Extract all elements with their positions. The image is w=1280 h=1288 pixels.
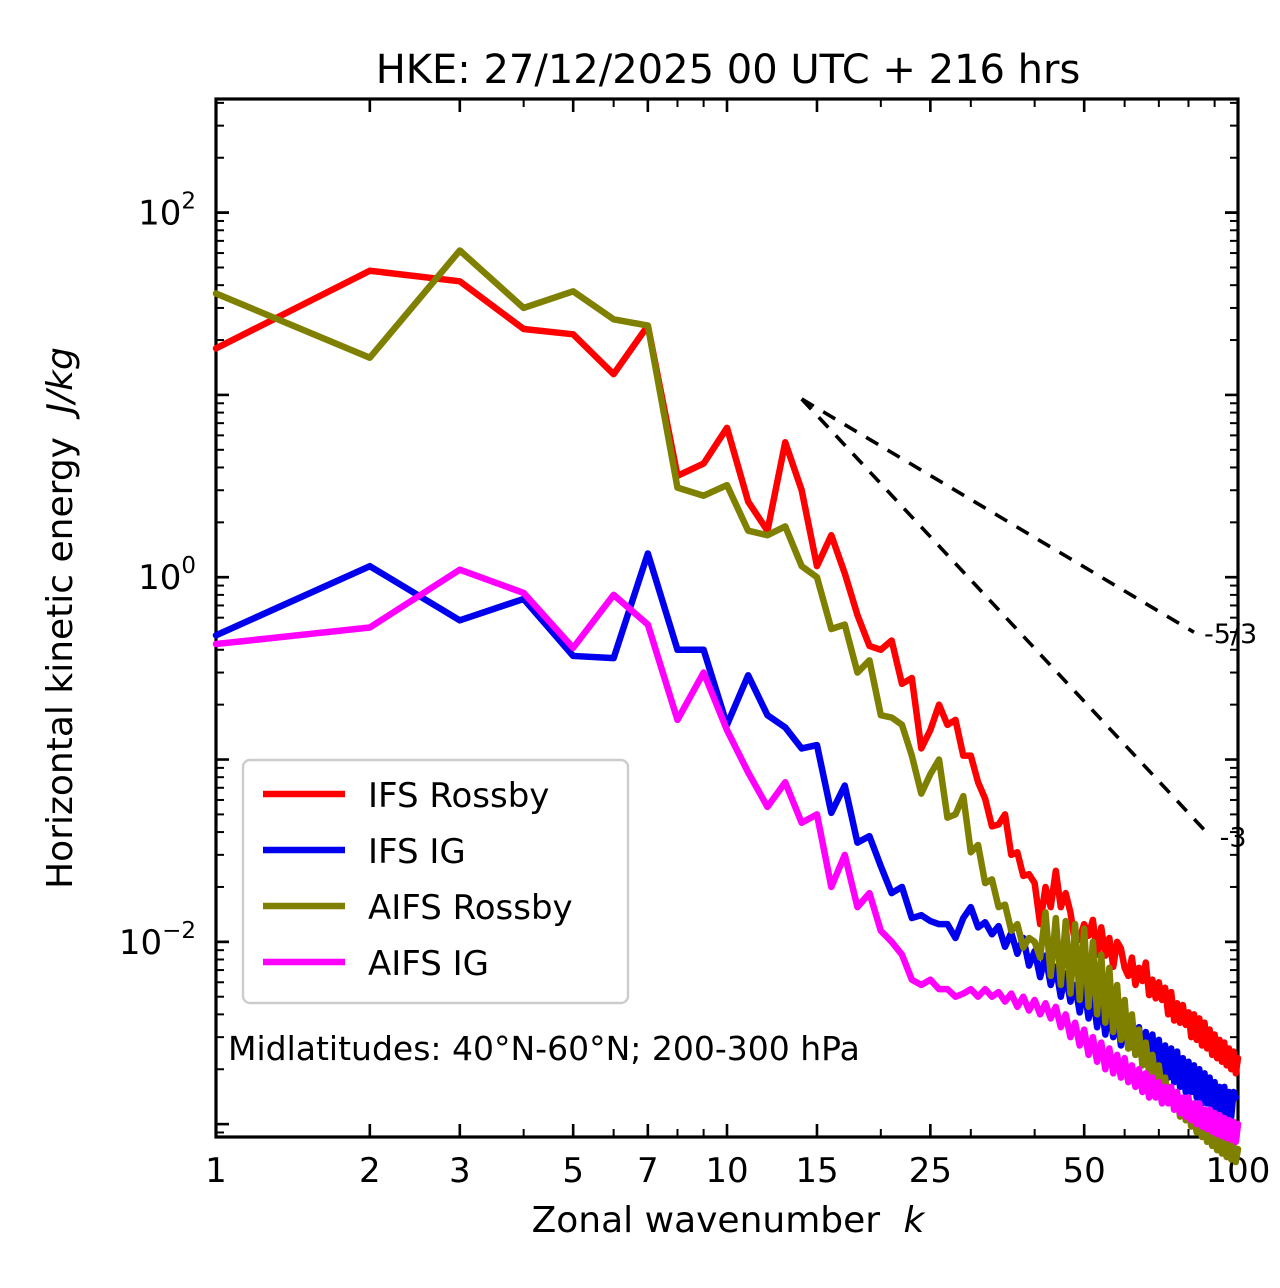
y-tick-label: 102 <box>138 189 196 234</box>
x-tick-label: 2 <box>359 1151 381 1191</box>
x-tick-label: 5 <box>562 1151 584 1191</box>
x-tick-label: 15 <box>795 1151 838 1191</box>
x-axis-label-symbol: k <box>904 1200 927 1241</box>
slope-line <box>802 399 1194 632</box>
hke-spectrum-chart: HKE: 27/12/2025 00 UTC + 216 hrs 1235710… <box>0 0 1280 1288</box>
series-line-aifs-rossby <box>216 250 1238 1162</box>
slope-label: -5/3 <box>1204 619 1257 650</box>
data-series-group <box>216 250 1238 1162</box>
chart-title: HKE: 27/12/2025 00 UTC + 216 hrs <box>376 47 1081 93</box>
x-axis-tick-labels: 1235710152550100 <box>205 1151 1270 1191</box>
y-axis-label-symbol: J/kg <box>40 347 81 419</box>
x-tick-label: 7 <box>637 1151 659 1191</box>
y-tick-label: 100 <box>138 553 196 598</box>
y-axis-label-text: Horizontal kinetic energy <box>40 437 81 889</box>
x-tick-label: 50 <box>1063 1151 1106 1191</box>
x-tick-label: 3 <box>449 1151 471 1191</box>
reference-slope-lines: -5/3-3 <box>802 399 1257 854</box>
x-axis-label: Zonal wavenumber k <box>532 1200 927 1241</box>
slope-line <box>802 399 1210 836</box>
legend-label-ifs-rossby[interactable]: IFS Rossby <box>368 776 549 816</box>
legend-label-aifs-ig[interactable]: AIFS IG <box>368 944 489 984</box>
figure-container: HKE: 27/12/2025 00 UTC + 216 hrs 1235710… <box>0 0 1280 1288</box>
x-tick-label: 25 <box>909 1151 952 1191</box>
slope-label: -3 <box>1220 823 1247 854</box>
y-axis-label: Horizontal kinetic energy J/kg <box>40 347 81 889</box>
x-axis-label-text: Zonal wavenumber <box>532 1200 881 1241</box>
y-tick-label: 10−2 <box>119 918 196 963</box>
x-tick-label: 10 <box>705 1151 748 1191</box>
legend-label-ifs-ig[interactable]: IFS IG <box>368 832 466 872</box>
legend[interactable]: IFS RossbyIFS IGAIFS RossbyAIFS IG <box>243 760 628 1003</box>
legend-label-aifs-rossby[interactable]: AIFS Rossby <box>368 888 573 928</box>
region-annotation: Midlatitudes: 40°N-60°N; 200-300 hPa <box>228 1029 860 1068</box>
x-tick-label: 1 <box>205 1151 227 1191</box>
y-axis-tick-labels: 10210010−2 <box>119 189 196 963</box>
